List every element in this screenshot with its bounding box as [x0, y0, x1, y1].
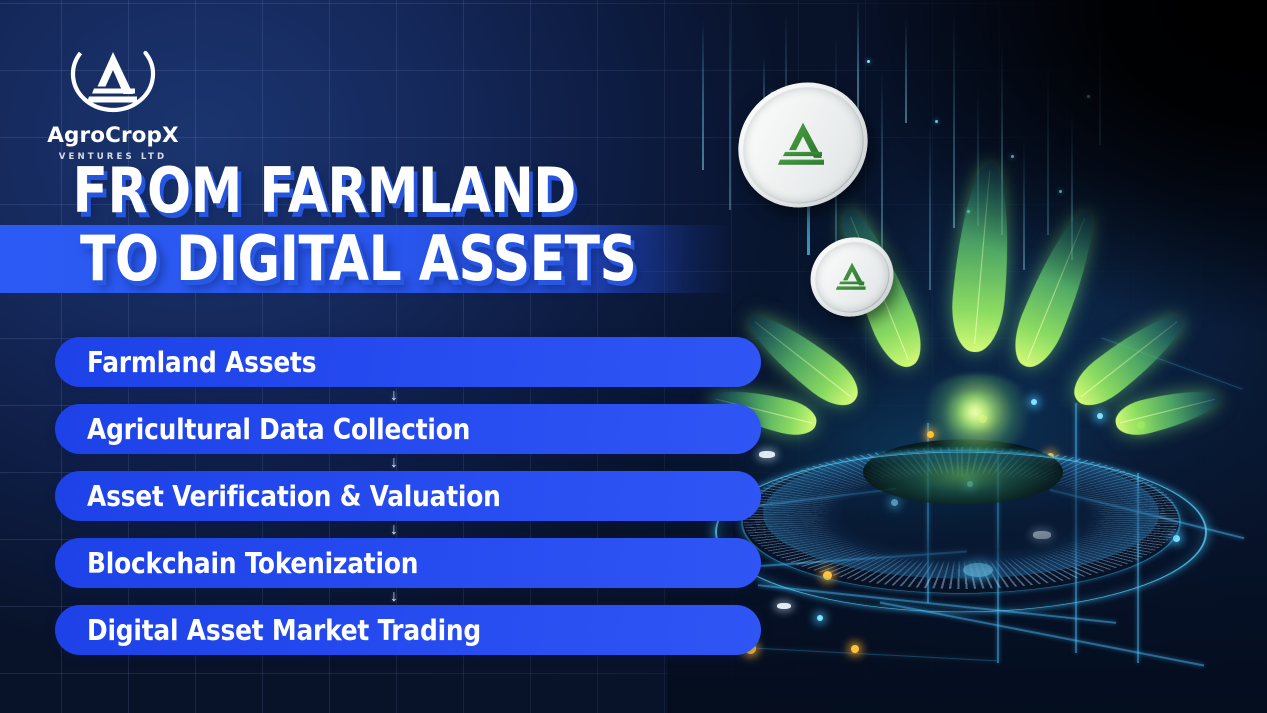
page-title: FROM FARMLAND TO DIGITAL ASSETS	[0, 157, 820, 293]
flow-step-label: Asset Verification & Valuation	[55, 480, 501, 513]
flow-step-asset-verification-valuation[interactable]: Asset Verification & Valuation	[55, 471, 761, 521]
flow-step-label: Blockchain Tokenization	[55, 547, 418, 580]
agrocropx-mountain-logo-icon	[832, 261, 872, 294]
flow-step-label: Farmland Assets	[55, 346, 316, 379]
flow-step-digital-asset-market-trading[interactable]: Digital Asset Market Trading	[55, 605, 761, 655]
headline-line-2-text: TO DIGITAL ASSETS	[0, 225, 763, 293]
flow-arrow-down-icon-3: ↓	[55, 521, 761, 538]
flow-step-blockchain-tokenization[interactable]: Blockchain Tokenization	[55, 538, 761, 588]
flow-step-farmland-assets[interactable]: Farmland Assets	[55, 337, 761, 387]
arrow-glyph: ↓	[390, 521, 398, 538]
agrocropx-mountain-logo-icon	[67, 31, 159, 123]
process-flow-list: Farmland Assets ↓ Agricultural Data Coll…	[55, 337, 761, 655]
headline-line-2: TO DIGITAL ASSETS	[0, 225, 820, 293]
poster-canvas: AgroCropX VENTURES LTD FROM FARMLAND TO …	[0, 0, 1267, 713]
flow-arrow-down-icon-2: ↓	[55, 454, 761, 471]
flow-step-label: Agricultural Data Collection	[55, 413, 470, 446]
flow-step-agricultural-data-collection[interactable]: Agricultural Data Collection	[55, 404, 761, 454]
flow-arrow-down-icon-4: ↓	[55, 588, 761, 605]
arrow-glyph: ↓	[390, 588, 398, 605]
arrow-glyph: ↓	[390, 387, 398, 404]
brand-name: AgroCropX	[43, 125, 183, 147]
flow-arrow-down-icon-1: ↓	[55, 387, 761, 404]
headline-line-1: FROM FARMLAND	[0, 157, 820, 225]
flow-step-label: Digital Asset Market Trading	[55, 614, 481, 647]
headline-line-1-text: FROM FARMLAND	[0, 157, 763, 225]
arrow-glyph: ↓	[390, 454, 398, 471]
brand-logo-block: AgroCropX VENTURES LTD	[43, 31, 183, 161]
